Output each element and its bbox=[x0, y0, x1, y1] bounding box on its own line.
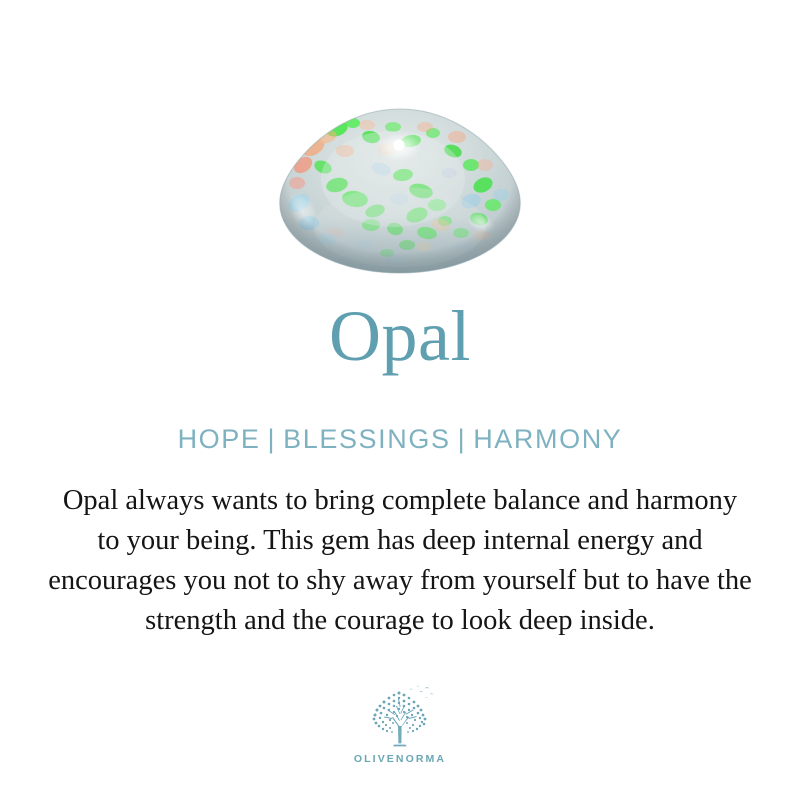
description-line-4: strength and the courage to look deep in… bbox=[20, 601, 780, 641]
description-paragraph: Opal always wants to bring complete bala… bbox=[20, 481, 780, 641]
brand-logo[interactable]: OLIVENORMA bbox=[354, 681, 446, 765]
keyword-harmony: HARMONY bbox=[473, 424, 622, 454]
page-title: Opal bbox=[329, 300, 471, 372]
keyword-blessings: BLESSINGS bbox=[283, 424, 450, 454]
keyword-hope: HOPE bbox=[178, 424, 261, 454]
gemstone-image-area bbox=[0, 0, 800, 300]
opal-gem-icon bbox=[275, 107, 525, 275]
opal-cabochon-image bbox=[275, 107, 525, 275]
olive-tree-icon bbox=[363, 681, 437, 751]
description-line-3: encourages you not to shy away from your… bbox=[20, 561, 780, 601]
keywords-subtitle: HOPE|BLESSINGS|HARMONY bbox=[178, 424, 623, 455]
brand-wordmark: OLIVENORMA bbox=[354, 753, 446, 765]
keyword-separator-1: | bbox=[260, 424, 283, 454]
description-line-1: Opal always wants to bring complete bala… bbox=[20, 481, 780, 521]
description-line-2: to your being. This gem has deep interna… bbox=[20, 521, 780, 561]
gemstone-info-card: Opal HOPE|BLESSINGS|HARMONY Opal always … bbox=[0, 0, 800, 800]
keyword-separator-2: | bbox=[451, 424, 474, 454]
